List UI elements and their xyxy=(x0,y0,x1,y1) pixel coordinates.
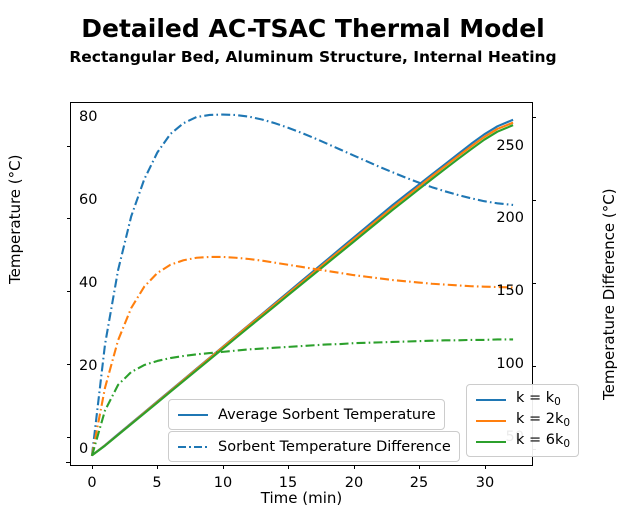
ytick-right-mark-60 xyxy=(532,200,536,201)
chart-subtitle: Rectangular Bed, Aluminum Structure, Int… xyxy=(0,47,626,67)
line-swatch-dashdot-icon xyxy=(177,440,209,454)
ytick-left-mark-50 xyxy=(67,437,71,438)
xtick-mark-5 xyxy=(157,465,158,469)
legend-item-6k0: k = 6k0 xyxy=(475,431,570,452)
ytick-right-label-0: 0 xyxy=(79,441,88,457)
xtick-mark-10 xyxy=(223,465,224,469)
legend-linestyle-solid[interactable]: Average Sorbent Temperature xyxy=(168,399,445,430)
x-axis-label: Time (min) xyxy=(0,489,603,507)
legend-item: Average Sorbent Temperature xyxy=(177,404,436,425)
ytick-left-label-250: 250 xyxy=(496,138,524,154)
legend-label-average-sorbent-temperature: Average Sorbent Temperature xyxy=(218,408,436,422)
title-block: Detailed AC-TSAC Thermal Model Rectangul… xyxy=(0,0,626,67)
xtick-mark-30 xyxy=(485,465,486,469)
xtick-mark-25 xyxy=(419,465,420,469)
page-title: Detailed AC-TSAC Thermal Model xyxy=(0,14,626,44)
ytick-left-label-200: 200 xyxy=(496,210,524,226)
ytick-right-label-60: 60 xyxy=(79,192,97,208)
y-axis-label-right: Temperature Difference (°C) xyxy=(600,188,618,400)
line-swatch-solid-icon xyxy=(177,408,209,422)
ytick-left-mark-150 xyxy=(67,291,71,292)
legend-label-k0: k = k0 xyxy=(516,391,561,409)
ytick-right-label-20: 20 xyxy=(79,358,97,374)
line-swatch-green-icon xyxy=(475,435,507,449)
ytick-left-label-150: 150 xyxy=(496,283,524,299)
ytick-left-label-100: 100 xyxy=(496,356,524,372)
legend-label-2k0: k = 2k0 xyxy=(516,412,570,430)
xtick-mark-0 xyxy=(92,465,93,469)
legend-label-sorbent-temperature-difference: Sorbent Temperature Difference xyxy=(218,440,451,454)
legend-linestyle-dashdot[interactable]: Sorbent Temperature Difference xyxy=(168,431,460,462)
ytick-right-label-40: 40 xyxy=(79,275,97,291)
y-axis-label-left: Temperature (°C) xyxy=(6,155,24,284)
line-swatch-orange-icon xyxy=(475,414,507,428)
ytick-left-mark-100 xyxy=(67,364,71,365)
chart-figure: Detailed AC-TSAC Thermal Model Rectangul… xyxy=(0,0,626,524)
ytick-right-mark-20 xyxy=(532,366,536,367)
ytick-right-mark-80 xyxy=(532,117,536,118)
xtick-mark-15 xyxy=(288,465,289,469)
ytick-left-mark-200 xyxy=(67,218,71,219)
ytick-right-label-80: 80 xyxy=(79,109,97,125)
legend-label-6k0: k = 6k0 xyxy=(516,433,570,451)
line-swatch-blue-icon xyxy=(475,393,507,407)
legend-item-k0: k = k0 xyxy=(475,389,570,410)
legend-item: Sorbent Temperature Difference xyxy=(177,436,451,457)
ytick-right-mark-40 xyxy=(532,283,536,284)
legend-series-colors[interactable]: k = k0 k = 2k0 k = 6k0 xyxy=(466,384,579,457)
ytick-left-mark-250 xyxy=(67,146,71,147)
legend-item-2k0: k = 2k0 xyxy=(475,410,570,431)
xtick-mark-20 xyxy=(354,465,355,469)
